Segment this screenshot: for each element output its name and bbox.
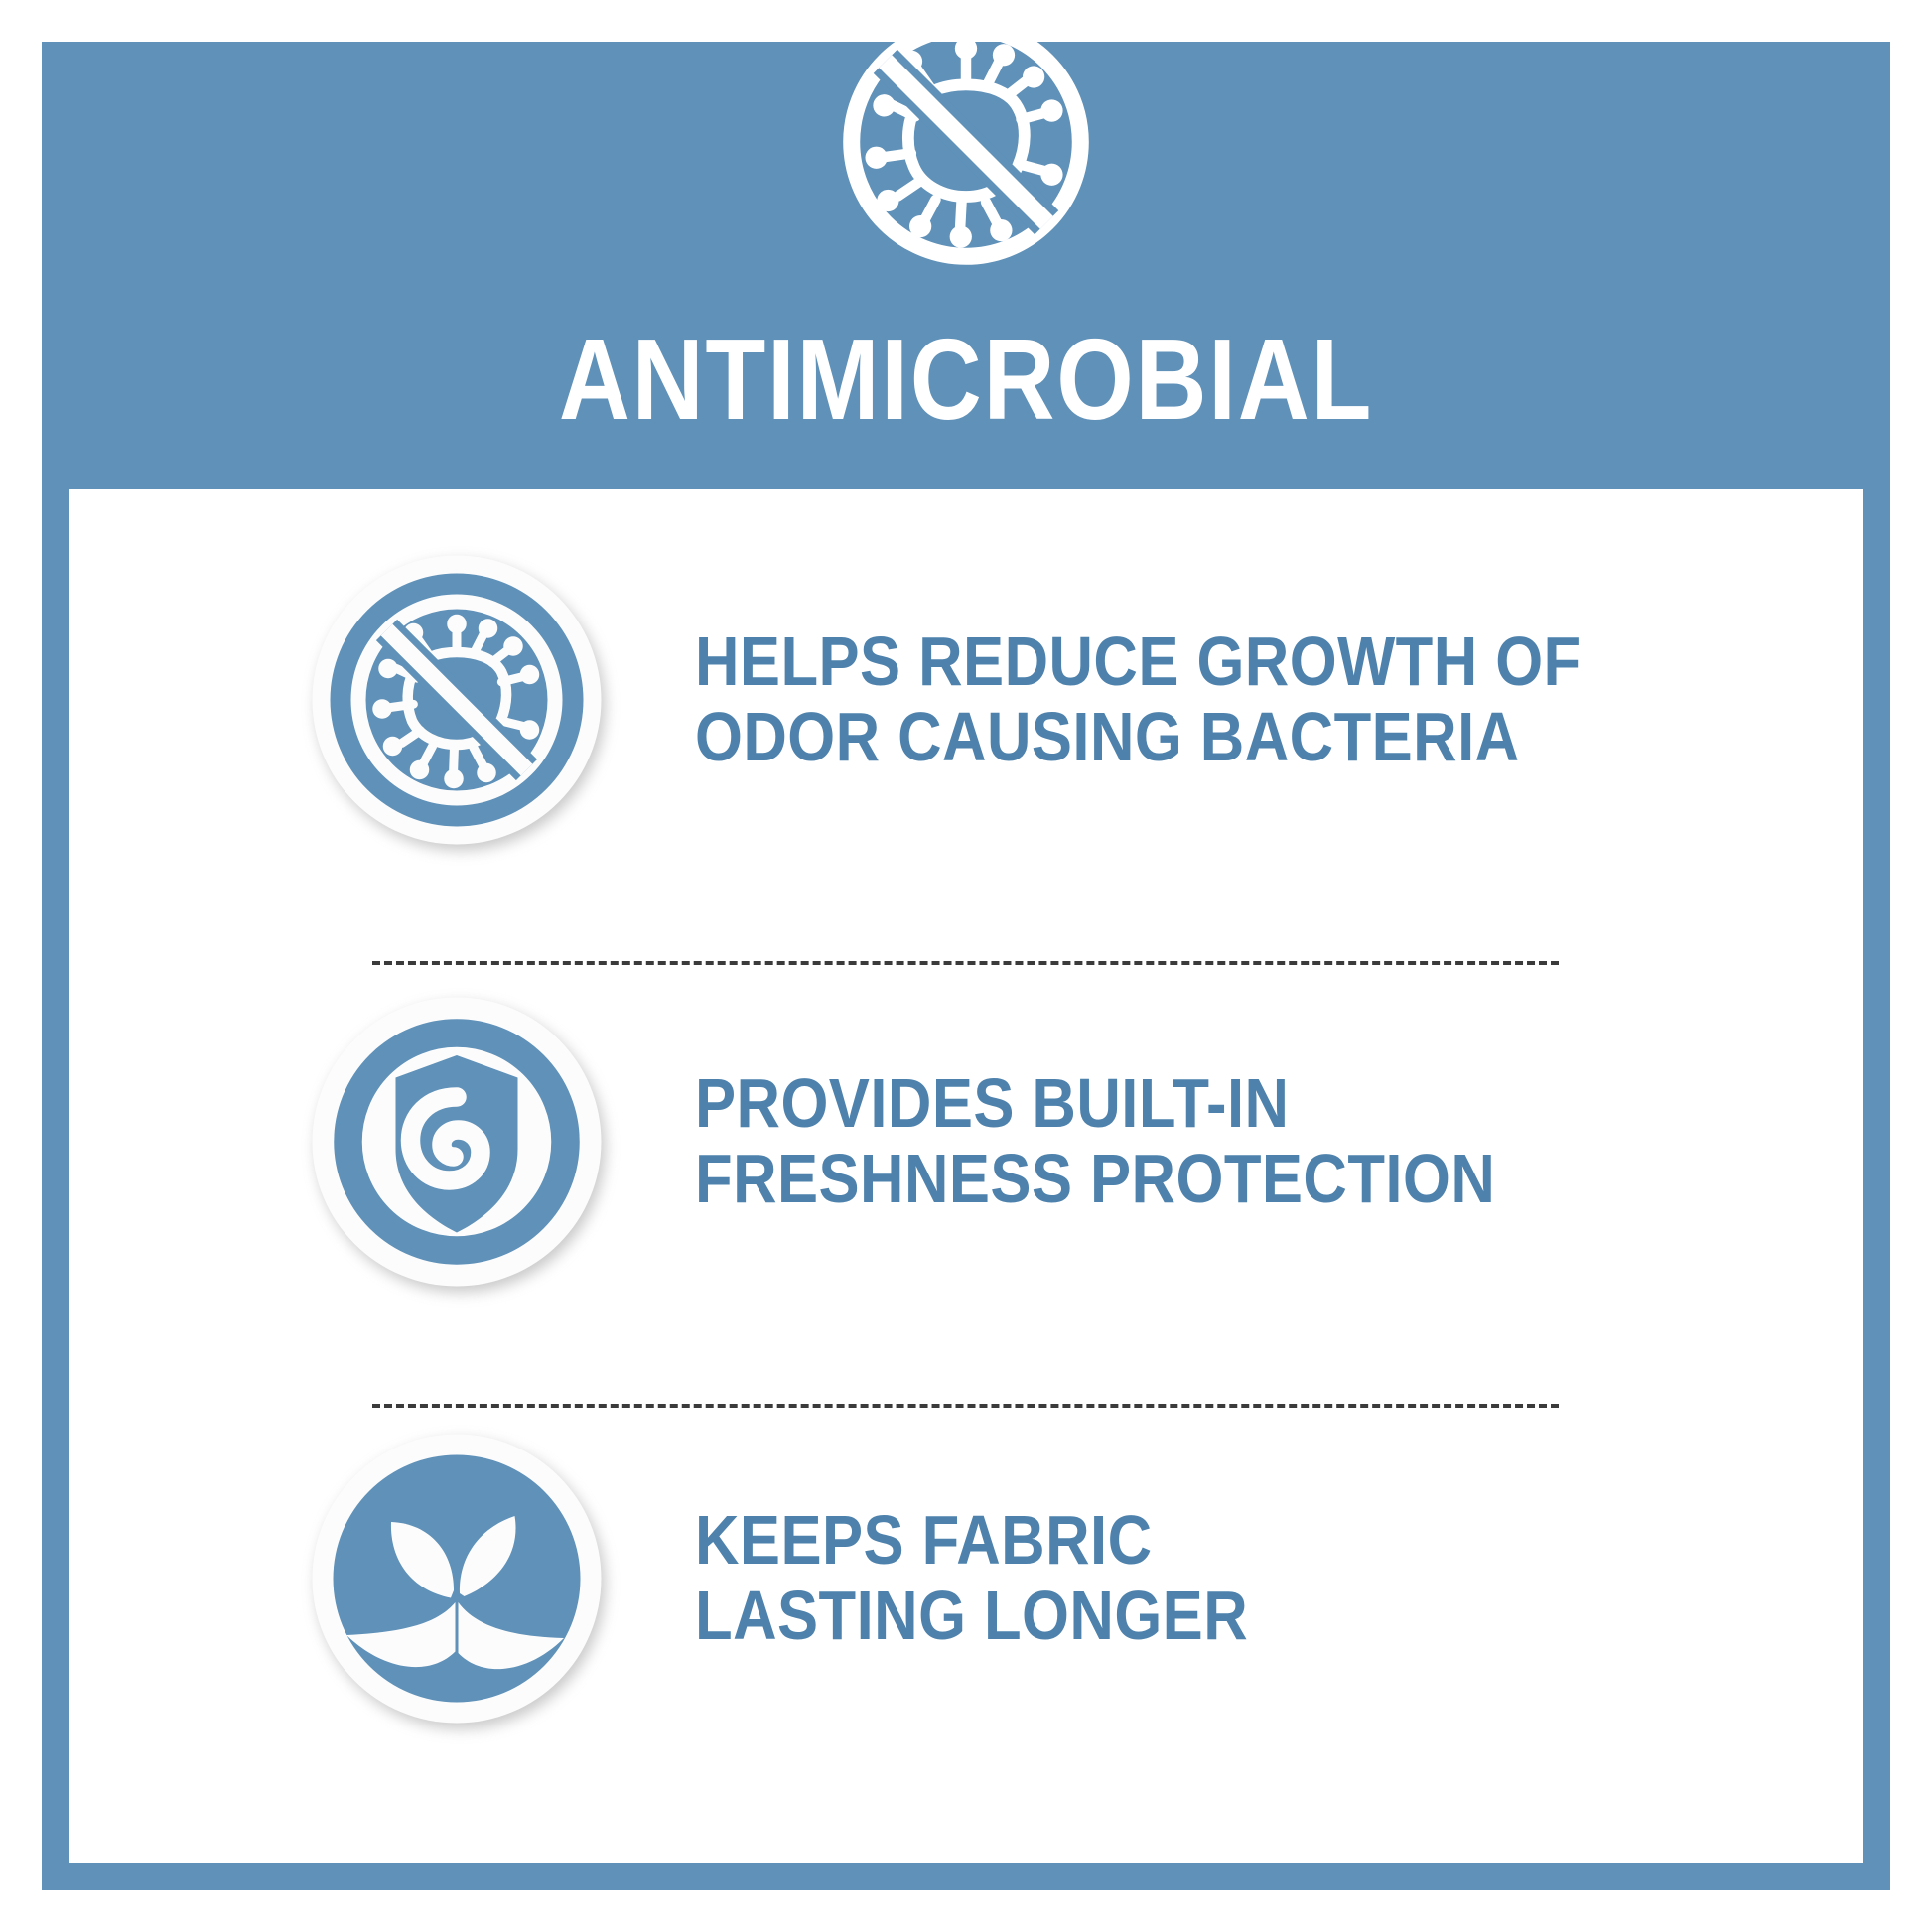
feature-row: HELPS REDUCE GROWTH OF ODOR CAUSING BACT… [308, 551, 1628, 849]
feature-label-line-1: HELPS REDUCE GROWTH OF [695, 624, 1582, 700]
no-virus-icon [308, 551, 606, 849]
feature-label: KEEPS FABRIC LASTING LONGER [695, 1503, 1248, 1653]
antimicrobial-infographic: ANTIMICROBIAL [0, 0, 1932, 1932]
row-divider [372, 961, 1559, 965]
leaf-sprout-icon [308, 1430, 606, 1727]
feature-label-line-2: LASTING LONGER [695, 1579, 1248, 1654]
feature-label-line-2: ODOR CAUSING BACTERIA [695, 700, 1582, 775]
shield-swirl-icon [308, 993, 606, 1291]
feature-label-line-1: KEEPS FABRIC [695, 1503, 1248, 1579]
feature-label-line-1: PROVIDES BUILT-IN [695, 1066, 1495, 1142]
feature-row: KEEPS FABRIC LASTING LONGER [308, 1430, 1628, 1727]
row-divider [372, 1404, 1559, 1408]
feature-row: PROVIDES BUILT-IN FRESHNESS PROTECTION [308, 993, 1628, 1291]
header-band: ANTIMICROBIAL [42, 42, 1890, 489]
page-title: ANTIMICROBIAL [171, 322, 1760, 437]
feature-label-line-2: FRESHNESS PROTECTION [695, 1142, 1495, 1217]
feature-label: PROVIDES BUILT-IN FRESHNESS PROTECTION [695, 1066, 1495, 1216]
feature-label: HELPS REDUCE GROWTH OF ODOR CAUSING BACT… [695, 624, 1582, 774]
no-virus-icon [836, 12, 1096, 272]
